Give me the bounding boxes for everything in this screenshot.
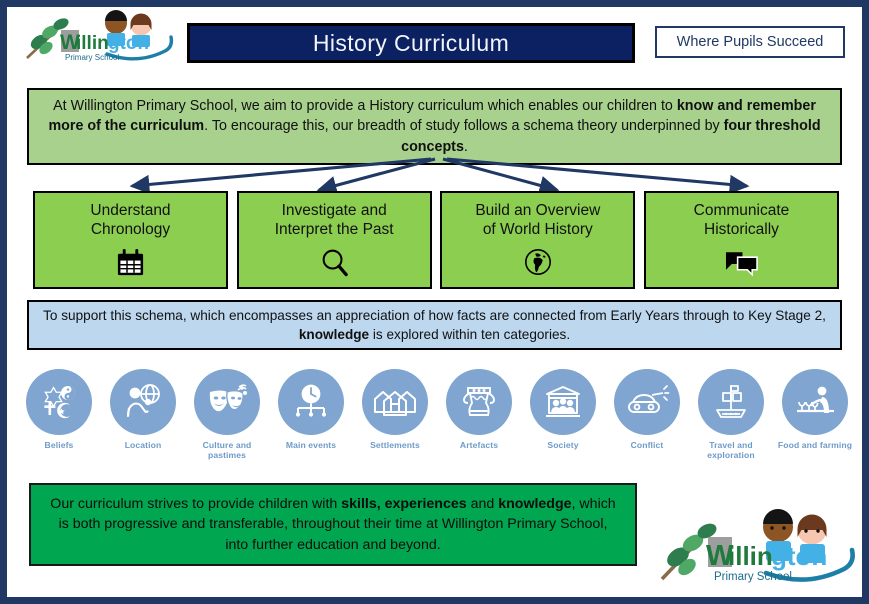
category-label: Culture and pastimes — [187, 440, 267, 460]
category-main-events: Main events — [271, 369, 351, 450]
concept-label-line1: Investigate and — [275, 201, 394, 220]
category-label: Location — [125, 440, 162, 450]
intro-statement-box: At Willington Primary School, we aim to … — [27, 88, 842, 165]
category-settlements: Settlements — [355, 369, 435, 450]
svg-text:Primary School: Primary School — [65, 53, 119, 62]
category-location: Location — [103, 369, 183, 450]
globe-icon — [523, 245, 553, 279]
knowledge-categories-row: Beliefs Location — [19, 369, 855, 469]
outro-statement-text: Our curriculum strives to provide childr… — [47, 494, 619, 556]
concept-card-communicate-historically: Communicate Historically — [644, 191, 839, 289]
concept-label: Build an Overview of World History — [475, 201, 600, 239]
motto-text: Where Pupils Succeed — [677, 34, 824, 50]
concept-card-understand-chronology: Understand Chronology — [33, 191, 228, 289]
houses-icon — [362, 369, 428, 435]
curriculum-poster: W illin gton Primary School History Curr… — [0, 0, 869, 604]
poster-header: W illin gton Primary School History Curr… — [7, 7, 862, 69]
clock-timeline-icon — [278, 369, 344, 435]
category-label: Conflict — [631, 440, 664, 450]
school-motto-badge: Where Pupils Succeed — [655, 26, 845, 58]
svg-text:Primary School: Primary School — [714, 571, 792, 583]
category-label: Beliefs — [45, 440, 74, 450]
outro-statement-box: Our curriculum strives to provide childr… — [29, 483, 637, 566]
concept-card-build-overview: Build an Overview of World History — [440, 191, 635, 289]
svg-text:illin: illin — [76, 33, 109, 54]
category-label: Food and farming — [778, 440, 852, 450]
theatre-masks-icon — [194, 369, 260, 435]
vase-icon — [446, 369, 512, 435]
concept-label-line2: Chronology — [90, 220, 170, 239]
farmer-plants-icon — [782, 369, 848, 435]
concept-label-line2: Historically — [694, 220, 790, 239]
civic-building-people-icon — [530, 369, 596, 435]
concept-label-line1: Communicate — [694, 201, 790, 220]
category-label: Travel and exploration — [691, 440, 771, 460]
category-label: Settlements — [370, 440, 420, 450]
category-label: Artefacts — [460, 440, 498, 450]
category-food-and-farming: Food and farming — [775, 369, 855, 450]
category-label: Society — [547, 440, 578, 450]
schema-statement-text: To support this schema, which encompasse… — [43, 306, 826, 344]
category-artefacts: Artefacts — [439, 369, 519, 450]
category-society: Society — [523, 369, 603, 450]
tank-icon — [614, 369, 680, 435]
svg-text:gton: gton — [108, 33, 149, 54]
school-logo-top: W illin gton Primary School — [7, 8, 179, 69]
category-label: Main events — [286, 440, 336, 450]
concept-label: Communicate Historically — [694, 201, 790, 239]
svg-text:gton: gton — [771, 541, 827, 571]
schema-statement-box: To support this schema, which encompasse… — [27, 300, 842, 350]
sailing-ship-icon — [698, 369, 764, 435]
concept-label-line1: Understand — [90, 201, 170, 220]
intro-statement-text: At Willington Primary School, we aim to … — [41, 96, 828, 157]
person-globe-icon — [110, 369, 176, 435]
concept-label-line2: Interpret the Past — [275, 220, 394, 239]
willington-logo-svg: W illin gton Primary School — [19, 8, 179, 64]
poster-title-bar: History Curriculum — [187, 23, 635, 63]
concept-label-line2: of World History — [475, 220, 600, 239]
calendar-icon — [115, 245, 146, 279]
speech-bubbles-icon — [725, 245, 758, 279]
concept-label: Investigate and Interpret the Past — [275, 201, 394, 239]
category-beliefs: Beliefs — [19, 369, 99, 450]
concept-label-line1: Build an Overview — [475, 201, 600, 220]
category-conflict: Conflict — [607, 369, 687, 450]
concept-label: Understand Chronology — [90, 201, 170, 239]
religious-symbols-icon — [26, 369, 92, 435]
category-travel-and-exploration: Travel and exploration — [691, 369, 771, 460]
school-logo-bottom: W illin gton Primary School — [652, 505, 857, 592]
category-culture-and-pastimes: Culture and pastimes — [187, 369, 267, 460]
willington-logo-svg-bottom: W illin gton Primary School — [652, 505, 857, 587]
page-title: History Curriculum — [313, 30, 509, 57]
threshold-concepts-row: Understand Chronology — [33, 191, 839, 289]
svg-text:illin: illin — [728, 541, 773, 571]
magnifying-glass-icon — [319, 245, 350, 279]
concept-card-investigate-interpret: Investigate and Interpret the Past — [237, 191, 432, 289]
